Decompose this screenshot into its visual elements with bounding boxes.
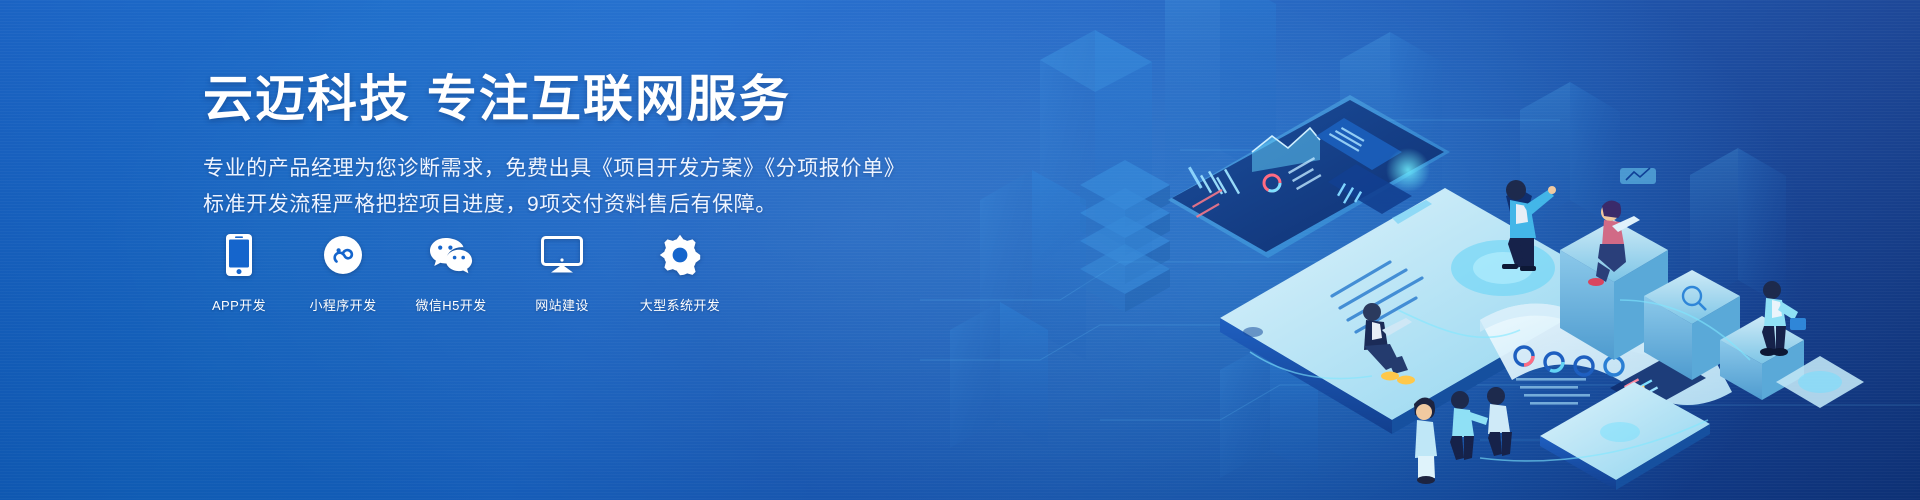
hero-banner: 云迈科技 专注互联网服务 专业的产品经理为您诊断需求，免费出具《项目开发方案》《…: [0, 0, 1920, 500]
service-label-app: APP开发: [212, 295, 266, 314]
server-stack-decor: [1080, 160, 1170, 312]
wechat-icon: [408, 232, 494, 278]
service-item-wechat-h5[interactable]: 微信H5开发: [408, 232, 494, 314]
service-item-app[interactable]: APP开发: [200, 232, 278, 314]
gear-icon: [630, 232, 730, 278]
service-label-wechat-h5: 微信H5开发: [415, 295, 486, 314]
service-item-website[interactable]: 网站建设: [520, 232, 604, 314]
mobile-phone-icon: [200, 232, 278, 278]
service-label-website: 网站建设: [535, 295, 589, 314]
service-item-mini-program[interactable]: 小程序开发: [304, 232, 382, 314]
service-label-large-system: 大型系统开发: [640, 295, 720, 314]
hero-subtitle: 专业的产品经理为您诊断需求，免费出具《项目开发方案》《分项报价单》 标准开发流程…: [203, 151, 903, 223]
figure-woman-standing-decor: [1414, 397, 1437, 484]
mini-program-icon: [304, 232, 382, 278]
service-item-large-system[interactable]: 大型系统开发: [630, 232, 730, 314]
monitor-icon: [520, 232, 604, 278]
subtitle-line-1: 专业的产品经理为您诊断需求，免费出具《项目开发方案》《分项报价单》: [203, 151, 903, 187]
service-icon-row: APP开发 小程序开发: [200, 232, 730, 314]
service-label-mini-program: 小程序开发: [309, 295, 376, 314]
subtitle-line-2: 标准开发流程严格把控项目进度，9项交付资料售后有保障。: [203, 187, 903, 223]
figure-pair-decor: [1450, 387, 1512, 460]
page-title: 云迈科技 专注互联网服务: [203, 70, 903, 129]
illustration-isometric-tech-team: [920, 0, 1920, 500]
hero-copy-block: 云迈科技 专注互联网服务 专业的产品经理为您诊断需求，免费出具《项目开发方案》《…: [203, 70, 903, 223]
